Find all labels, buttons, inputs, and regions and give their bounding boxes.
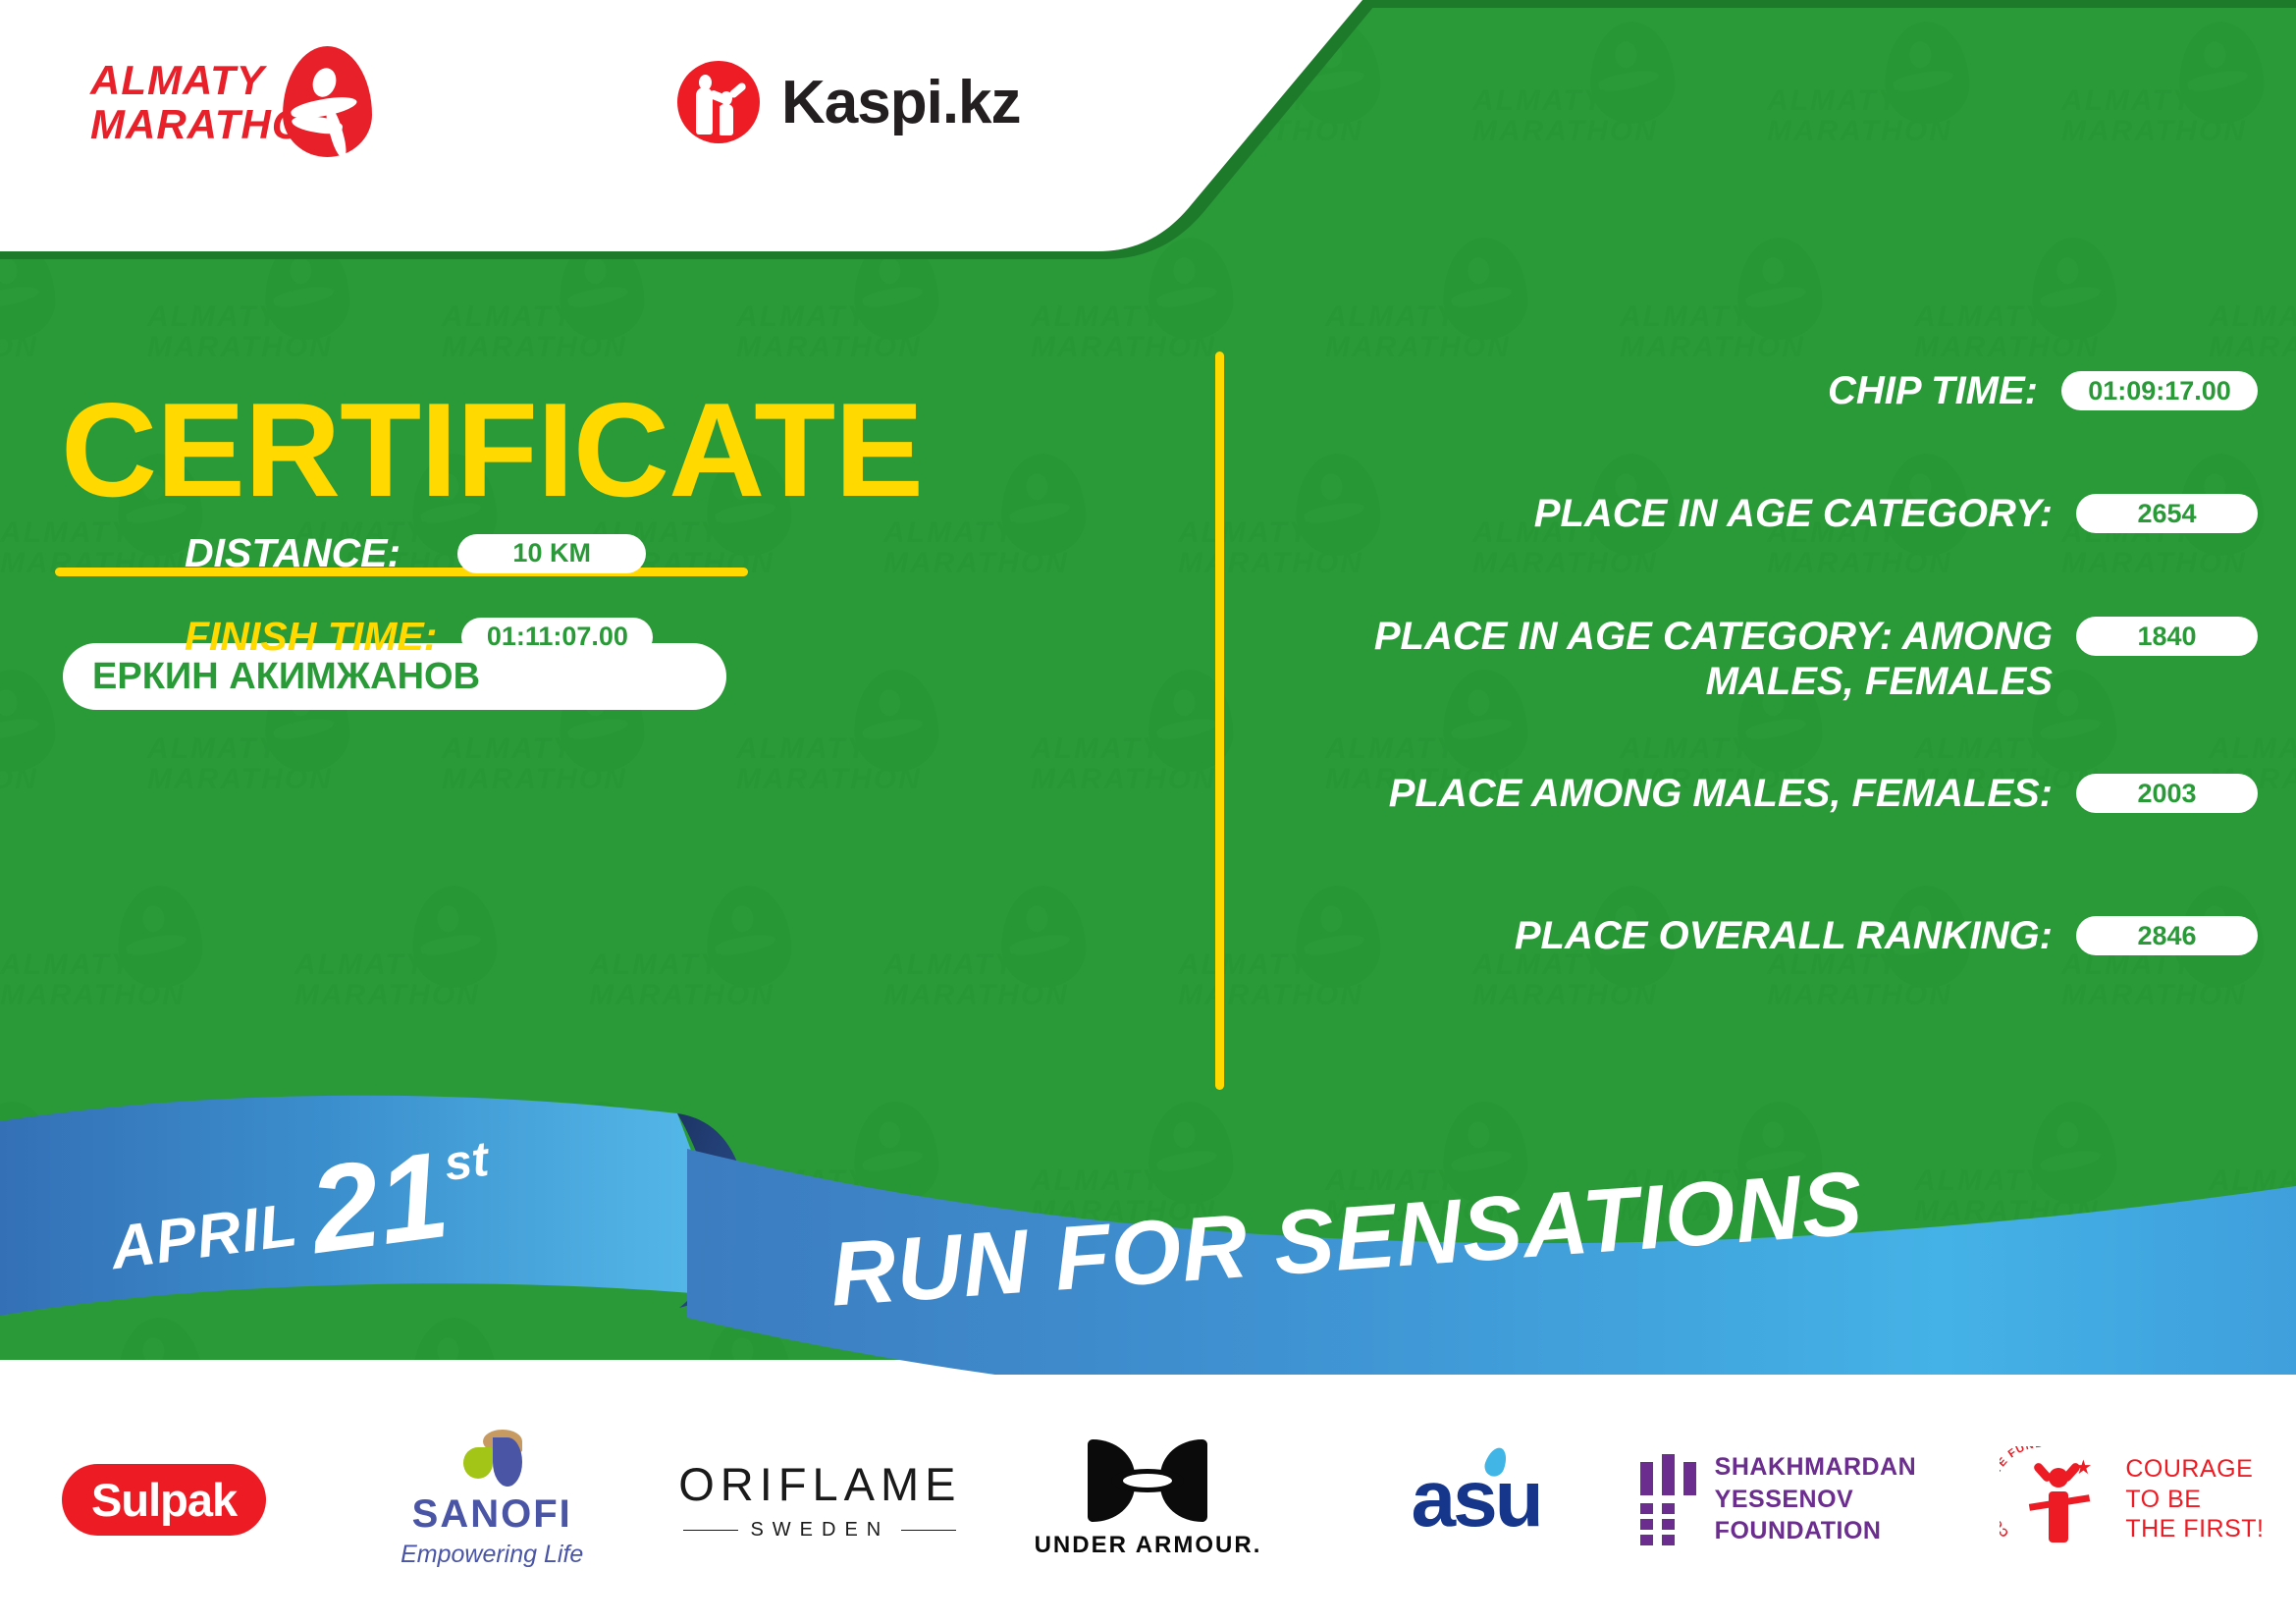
watermark-tile: ALMATYMARATHON (1031, 1080, 1325, 1296)
courage-runner-icon: CORPORATE FUND ★ (2000, 1440, 2117, 1558)
watermark-text: ALMATYMARATHON (147, 1166, 333, 1226)
stat-row: PLACE AMONG MALES, FEMALES: 2003 (1266, 771, 2258, 816)
stat-value-chip-time: 01:09:17.00 (2061, 371, 2258, 410)
watermark-text: ALMATYMARATHON (147, 734, 333, 794)
watermark-text: ALMATYMARATHON (1620, 1166, 1805, 1226)
sponsor-under-armour: UNDER ARMOUR. (984, 1421, 1311, 1578)
watermark-drop-icon (1588, 1317, 1677, 1360)
finish-time-value: 01:11:07.00 (461, 618, 653, 657)
watermark-tile: ALMATYMARATHON (1472, 0, 1767, 216)
watermark-text: ALMATYMARATHON (2209, 1166, 2296, 1226)
watermark-text: ALMATYMARATHON (883, 950, 1069, 1010)
watermark-tile: ALMATYMARATHON (147, 1080, 442, 1296)
watermark-tile: ALMATYMARATHON (883, 864, 1178, 1080)
watermark-tile: ALMATYMARATHON (294, 1296, 589, 1360)
stat-row: PLACE IN AGE CATEGORY: AMONG MALES, FEMA… (1266, 614, 2258, 704)
kaspi-child-body (719, 104, 733, 135)
oriflame-logo: ORIFLAME SWEDEN (678, 1457, 961, 1542)
watermark-tile: ALMATYMARATHON (1325, 1080, 1620, 1296)
stat-value-place-age-category-among: 1840 (2076, 617, 2258, 656)
watermark-tile: ALMATYMARATHON (1767, 864, 2061, 1080)
kaspi-wordmark: Kaspi.kz (781, 68, 1021, 137)
watermark-tile: ALMATYMARATHON (736, 648, 1031, 864)
yessenov-line2: FOUNDATION (1715, 1515, 1968, 1547)
sponsor-yessenov-foundation: SHAKHMARDAN YESSENOV FOUNDATION (1640, 1421, 1968, 1578)
watermark-tile: ALMATYMARATHON (1767, 0, 2061, 216)
header-panel: ALMATY MARATHON Kaspi.kz (0, 0, 1433, 295)
watermark-tile: ALMATYMARATHON (2061, 1296, 2296, 1360)
watermark-tile: ALMATYMARATHON (1914, 1080, 2209, 1296)
sponsor-courage-to-be-the-first: CORPORATE FUND ★ COURAGE TO BE THE FIRST… (1968, 1421, 2296, 1578)
watermark-tile: ALMATYMARATHON (0, 1296, 294, 1360)
kaspi-adult-child-circle-icon (677, 61, 760, 143)
sanofi-green-shape (463, 1447, 493, 1479)
participant-name-value: ЕРКИН АКИМЖАНОВ (92, 656, 480, 698)
watermark-text: ALMATYMARATHON (1914, 302, 2100, 362)
watermark-text: ALMATYMARATHON (883, 518, 1069, 578)
watermark-drop-icon (705, 1317, 793, 1360)
stat-row: PLACE IN AGE CATEGORY: 2654 (1266, 491, 2258, 537)
page-title: CERTIFICATE (61, 383, 923, 516)
watermark-text: ALMATYMARATHON (0, 734, 38, 794)
watermark-text: ALMATYMARATHON (1325, 302, 1511, 362)
column-divider (1215, 352, 1224, 1090)
watermark-text: ALMATYMARATHON (1325, 1166, 1511, 1226)
almaty-marathon-logo: ALMATY MARATHON (90, 46, 385, 149)
kaspi-logo: Kaspi.kz (677, 61, 1021, 143)
sanofi-logo: SANOFI Empowering Life (400, 1430, 583, 1569)
watermark-tile: ALMATYMARATHON (1178, 1296, 1472, 1360)
stat-row: PLACE OVERALL RANKING: 2846 (1266, 913, 2258, 959)
certificate-canvas: ALMATYMARATHONALMATYMARATHONALMATYMARATH… (0, 0, 2296, 1624)
watermark-tile: ALMATYMARATHON (1472, 1296, 1767, 1360)
watermark-text: ALMATYMARATHON (0, 950, 186, 1010)
yessenov-line1: SHAKHMARDAN YESSENOV (1715, 1451, 1968, 1515)
sponsor-bar: Sulpak SANOFI Empowering Life ORIFLAME S… (0, 1375, 2296, 1624)
watermark-text: ALMATYMARATHON (442, 302, 627, 362)
finish-time-label: FINISH TIME: (185, 614, 437, 660)
kaspi-child-arm (728, 81, 748, 99)
watermark-text: ALMATYMARATHON (1472, 86, 1658, 146)
watermark-text: ALMATYMARATHON (589, 950, 774, 1010)
stat-value-place-among-males-females: 2003 (2076, 774, 2258, 813)
under-armour-wordmark: UNDER ARMOUR. (1035, 1532, 1262, 1559)
watermark-tile: ALMATYMARATHON (1620, 1080, 1914, 1296)
watermark-tile: ALMATYMARATHON (1767, 1296, 2061, 1360)
kaspi-figure-gap (713, 107, 720, 136)
watermark-text: ALMATYMARATHON (736, 1166, 922, 1226)
watermark-tile: ALMATYMARATHON (2061, 0, 2296, 216)
courage-line2: TO BE (2125, 1485, 2264, 1515)
asu-logo: asu (1411, 1453, 1540, 1545)
stat-label-place-age-category-among: PLACE IN AGE CATEGORY: AMONG MALES, FEMA… (1266, 614, 2076, 704)
watermark-tile: ALMATYMARATHON (736, 1080, 1031, 1296)
watermark-tile: ALMATYMARATHON (442, 1080, 736, 1296)
watermark-text: ALMATYMARATHON (1914, 1166, 2100, 1226)
courage-fund-logo: CORPORATE FUND ★ COURAGE TO BE THE FIRST… (2000, 1440, 2264, 1558)
yessenov-bars-icon (1640, 1454, 1693, 1544)
sulpak-logo: Sulpak (62, 1464, 266, 1536)
sanofi-blue-shape (493, 1437, 522, 1487)
watermark-text: ALMATYMARATHON (0, 1166, 38, 1226)
stat-label-place-among-males-females: PLACE AMONG MALES, FEMALES: (1266, 771, 2076, 816)
almaty-marathon-line1: ALMATY (90, 57, 265, 103)
sponsor-oriflame: ORIFLAME SWEDEN (656, 1421, 984, 1578)
finish-time-field: FINISH TIME: 01:11:07.00 (185, 614, 653, 660)
watermark-text: ALMATYMARATHON (442, 1166, 627, 1226)
watermark-tile: ALMATYMARATHON (1472, 864, 1767, 1080)
watermark-tile: ALMATYMARATHON (2061, 864, 2296, 1080)
sanofi-wordmark: SANOFI (400, 1492, 583, 1537)
watermark-drop-icon (2177, 1317, 2266, 1360)
stat-row: CHIP TIME: 01:09:17.00 (1266, 368, 2258, 414)
watermark-text: ALMATYMARATHON (1767, 86, 1952, 146)
watermark-text: ALMATYMARATHON (294, 950, 480, 1010)
distance-value: 10 KM (457, 534, 646, 573)
svg-text:CORPORATE FUND: CORPORATE FUND (2000, 1446, 2045, 1539)
watermark-text: ALMATYMARATHON (0, 302, 38, 362)
watermark-text: ALMATYMARATHON (1031, 1166, 1216, 1226)
watermark-text: ALMATYMARATHON (2061, 86, 2247, 146)
yessenov-foundation-wordmark: SHAKHMARDAN YESSENOV FOUNDATION (1715, 1451, 1968, 1547)
watermark-text: ALMATYMARATHON (1620, 302, 1805, 362)
stat-label-chip-time: CHIP TIME: (1266, 368, 2061, 414)
watermark-drop-icon (1883, 1317, 1971, 1360)
watermark-tile: ALMATYMARATHON (883, 1296, 1178, 1360)
under-armour-ua-icon (1088, 1439, 1207, 1522)
watermark-tile: ALMATYMARATHON (2209, 1080, 2296, 1296)
watermark-drop-icon (999, 1317, 1088, 1360)
watermark-tile: ALMATYMARATHON (0, 1080, 147, 1296)
sponsor-sulpak: Sulpak (0, 1421, 328, 1578)
watermark-text: ALMATYMARATHON (1031, 302, 1216, 362)
asu-wordmark: asu (1411, 1454, 1540, 1543)
watermark-text: ALMATYMARATHON (147, 302, 333, 362)
courage-line1: COURAGE (2125, 1454, 2264, 1485)
watermark-tile: ALMATYMARATHON (294, 864, 589, 1080)
watermark-text: ALMATYMARATHON (1031, 734, 1216, 794)
watermark-text: ALMATYMARATHON (736, 734, 922, 794)
watermark-drop-icon (116, 1317, 204, 1360)
sponsor-asu: asu (1312, 1421, 1640, 1578)
stat-value-place-age-category: 2654 (2076, 494, 2258, 533)
sanofi-bird-icon (459, 1430, 524, 1487)
stat-value-place-overall-ranking: 2846 (2076, 916, 2258, 955)
distance-label: DISTANCE: (185, 530, 400, 576)
runner-head-shape (309, 65, 340, 100)
watermark-text: ALMATYMARATHON (736, 302, 922, 362)
watermark-drop-icon (1294, 1317, 1382, 1360)
watermark-text: ALMATYMARATHON (2209, 302, 2296, 362)
under-armour-logo: UNDER ARMOUR. (1035, 1439, 1262, 1559)
watermark-tile: ALMATYMARATHON (0, 864, 294, 1080)
sponsor-sanofi: SANOFI Empowering Life (328, 1421, 656, 1578)
stat-label-place-overall-ranking: PLACE OVERALL RANKING: (1266, 913, 2076, 959)
oriflame-wordmark: ORIFLAME (678, 1457, 961, 1511)
distance-field: DISTANCE: 10 KM (185, 530, 646, 576)
watermark-tile: ALMATYMARATHON (883, 432, 1178, 648)
yessenov-foundation-logo: SHAKHMARDAN YESSENOV FOUNDATION (1640, 1451, 1968, 1547)
watermark-tile: ALMATYMARATHON (589, 864, 883, 1080)
watermark-drop-icon (410, 1317, 499, 1360)
sanofi-tagline: Empowering Life (400, 1541, 583, 1569)
watermark-tile: ALMATYMARATHON (589, 1296, 883, 1360)
stat-label-place-age-category: PLACE IN AGE CATEGORY: (1266, 491, 2076, 537)
courage-wordmark: COURAGE TO BE THE FIRST! (2125, 1454, 2264, 1544)
watermark-text: ALMATYMARATHON (442, 734, 627, 794)
courage-line3: THE FIRST! (2125, 1514, 2264, 1544)
oriflame-sub-sweden: SWEDEN (678, 1519, 961, 1542)
